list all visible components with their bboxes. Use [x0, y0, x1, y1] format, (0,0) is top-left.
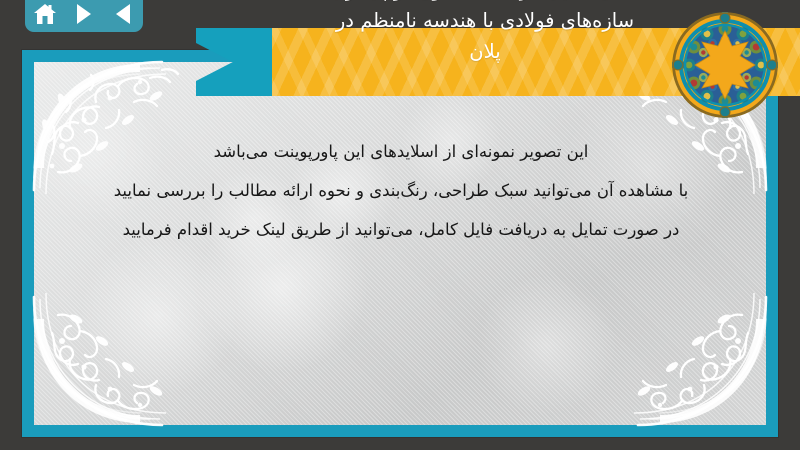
body-line-3: در صورت تمایل به دریافت فایل کامل، می‌تو… — [46, 210, 756, 249]
next-arrow-icon — [77, 4, 91, 24]
home-button[interactable] — [32, 1, 58, 27]
slide-body-text: این تصویر نمونه‌ای از اسلایدهای این پاور… — [46, 132, 756, 249]
body-line-2: با مشاهده آن می‌توانید سبک طراحی، رنگ‌بن… — [46, 171, 756, 210]
persian-medallion-icon — [672, 12, 778, 118]
navigation-bar — [25, 0, 143, 32]
slide-viewer: این تصویر نمونه‌ای از اسلایدهای این پاور… — [0, 0, 800, 450]
prev-slide-button[interactable] — [110, 1, 136, 27]
body-line-1: این تصویر نمونه‌ای از اسلایدهای این پاور… — [46, 132, 756, 171]
prev-arrow-icon — [116, 4, 130, 24]
next-slide-button[interactable] — [71, 1, 97, 27]
home-icon — [33, 3, 57, 25]
page-title: کامل تحلیل اثر حذف ستون در پایداری سازه‌… — [250, 0, 720, 67]
